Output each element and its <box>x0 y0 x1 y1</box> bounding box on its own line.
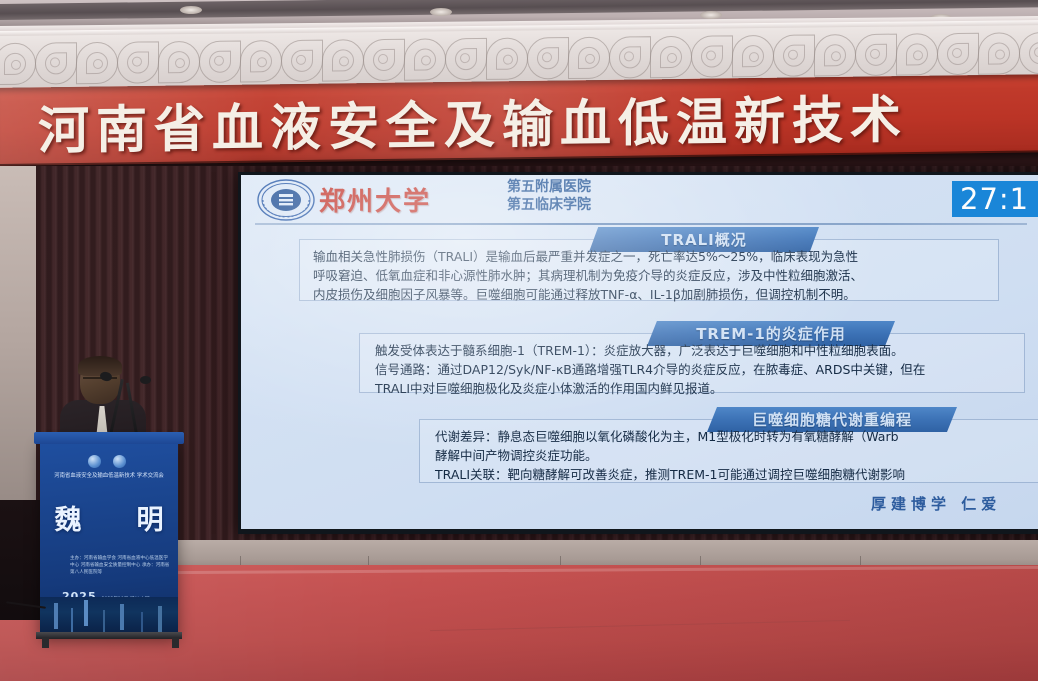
slide-section: TRALI概况 输血相关急性肺损伤（TRALI）是输血后最严重并发症之一，死亡率… <box>299 227 999 305</box>
podium-top-rail <box>34 432 184 444</box>
spiral-ornament-icon <box>0 43 36 85</box>
podium-logos <box>64 454 150 468</box>
conference-hall-photo: 河南省血液安全及输血低温新技术 郑州大学 第五附属医院 第五临床学院 <box>0 0 1038 681</box>
spiral-ornament-icon <box>158 41 200 83</box>
spiral-ornament-icon <box>568 37 610 79</box>
spiral-ornament-inner <box>701 45 723 67</box>
podium-leg <box>42 638 49 648</box>
spiral-ornament-icon <box>896 33 938 75</box>
podium-rollup-banner: 河南省血液安全及输血低温新技术 学术交流会 魏 明 主办：河南省输血学会 河南省… <box>40 440 178 635</box>
podium-skyline-graphic <box>40 597 178 635</box>
spiral-ornament-inner <box>783 45 805 67</box>
body-line: 酵解中间产物调控炎症功能。 <box>435 446 905 465</box>
spiral-ornament-icon <box>281 40 323 82</box>
spiral-ornament-inner <box>127 51 149 73</box>
spiral-ornament-inner <box>742 45 764 67</box>
spiral-ornament-icon <box>609 36 651 78</box>
spiral-ornament-inner <box>86 52 108 74</box>
venue-banner-text: 河南省血液安全及输血低温新技术 <box>38 78 908 163</box>
beam-light <box>700 11 722 19</box>
beam-light <box>180 6 202 14</box>
organizer-logo-icon <box>88 455 101 468</box>
speaker-name-display: 魏 明 <box>40 498 178 537</box>
podium-leg <box>172 638 179 648</box>
body-line: 信号通路：通过DAP12/Syk/NF-κB通路增强TLR4介导的炎症反应，在脓… <box>375 360 925 379</box>
spiral-ornament-icon <box>445 38 487 80</box>
spiral-ornament-inner <box>619 46 641 68</box>
spiral-ornament-inner <box>332 49 354 71</box>
affiliation-line-1: 第五附属医院 <box>507 178 591 196</box>
spiral-ornament-icon <box>35 42 77 84</box>
podium-conference-title: 河南省血液安全及输血低温新技术 学术交流会 <box>50 472 168 480</box>
body-line: 触发受体表达于髓系细胞-1（TREM-1）：炎症放大器，广泛表达于巨噬细胞和中性… <box>375 341 925 360</box>
spiral-ornament-inner <box>537 47 559 69</box>
section-body: 触发受体表达于髓系细胞-1（TREM-1）：炎症放大器，广泛表达于巨噬细胞和中性… <box>375 341 925 398</box>
section-body: 代谢差异：静息态巨噬细胞以氧化磷酸化为主，M1型极化时转为有氧糖酵解（Warb … <box>435 427 905 484</box>
spiral-ornament-icon <box>1019 32 1038 74</box>
body-line: 呼吸窘迫、低氧血症和非心源性肺水肿；其病理机制为免疫介导的炎症反应，涉及中性粒细… <box>313 266 863 285</box>
spiral-ornament-inner <box>291 50 313 72</box>
spiral-ornament-inner <box>209 51 231 73</box>
spiral-ornament-icon <box>240 40 282 82</box>
spiral-ornament-icon <box>978 32 1020 74</box>
timer-value: 27:1 <box>960 182 1029 216</box>
spiral-ornament-icon <box>732 35 774 77</box>
spiral-ornament-icon <box>855 34 897 76</box>
spiral-ornament-inner <box>1029 42 1038 64</box>
affiliation-name: 第五附属医院 第五临床学院 <box>507 178 591 214</box>
spiral-ornament-inner <box>988 42 1010 64</box>
spiral-ornament-inner <box>455 48 477 70</box>
beam-light <box>430 8 452 16</box>
organizer-logo-icon <box>113 455 126 468</box>
spiral-ornament-icon <box>117 41 159 83</box>
microphone-icon <box>140 376 151 384</box>
slide-section: TREM-1的炎症作用 触发受体表达于髓系细胞-1（TREM-1）：炎症放大器，… <box>359 321 1025 397</box>
spiral-ornament-icon <box>773 34 815 76</box>
spiral-ornament-inner <box>947 43 969 65</box>
spiral-ornament-icon <box>199 40 241 82</box>
body-line: TRALI关联：靶向糖酵解可改善炎症，推测TREM-1可能通过调控巨噬细胞糖代谢… <box>435 465 905 484</box>
spiral-ornament-icon <box>650 36 692 78</box>
spiral-ornament-inner <box>865 44 887 66</box>
spiral-ornament-icon <box>363 39 405 81</box>
spiral-ornament-inner <box>373 49 395 71</box>
body-line: 内皮损伤及细胞因子风暴等。巨噬细胞可能通过释放TNF-α、IL-1β加剧肺损伤，… <box>313 285 863 304</box>
spiral-ornament-icon <box>937 33 979 75</box>
spiral-ornament-icon <box>814 34 856 76</box>
university-seal-icon <box>257 179 315 221</box>
spiral-ornament-inner <box>45 52 67 74</box>
body-line: 代谢差异：静息态巨噬细胞以氧化磷酸化为主，M1型极化时转为有氧糖酵解（Warb <box>435 427 905 446</box>
spiral-ornament-inner <box>496 48 518 70</box>
spiral-ornament-icon <box>486 37 528 79</box>
body-line: 输血相关急性肺损伤（TRALI）是输血后最严重并发症之一，死亡率达5%～25%，… <box>313 247 863 266</box>
spiral-ornament-icon <box>322 39 364 81</box>
spiral-ornament-icon <box>527 37 569 79</box>
section-body: 输血相关急性肺损伤（TRALI）是输血后最严重并发症之一，死亡率达5%～25%，… <box>313 247 863 304</box>
slide-section: 巨噬细胞糖代谢重编程 代谢差异：静息态巨噬细胞以氧化磷酸化为主，M1型极化时转为… <box>419 407 1038 487</box>
podium-organizers: 主办：河南省输血学会 河南省血液中心低温医学中心 河南省输血安全质量控制中心 承… <box>70 555 170 576</box>
university-name: 郑州大学 <box>319 181 431 218</box>
slide-divider <box>255 223 1027 225</box>
body-line: TRALI中对巨噬细胞极化及炎症小体激活的作用国内鲜见报道。 <box>375 379 925 398</box>
spiral-ornament-inner <box>824 44 846 66</box>
presentation-screen[interactable]: 郑州大学 第五附属医院 第五临床学院 27:1 TRALI概况 输血相关急性肺损… <box>241 175 1038 529</box>
spiral-ornament-inner <box>250 50 272 72</box>
spiral-ornament-inner <box>578 47 600 69</box>
affiliation-line-2: 第五临床学院 <box>507 196 591 214</box>
spiral-ornament-icon <box>76 42 118 84</box>
spiral-ornament-inner <box>4 53 26 75</box>
slide-motto: 厚建博学 仁爱ᅟ <box>871 493 1015 514</box>
spiral-ornament-icon <box>691 35 733 77</box>
spiral-ornament-inner <box>168 51 190 73</box>
spiral-ornament-inner <box>414 48 436 70</box>
spiral-ornament-inner <box>906 43 928 65</box>
podium-base <box>36 632 182 639</box>
countdown-timer: 27:1 <box>952 181 1038 217</box>
spiral-ornament-inner <box>660 46 682 68</box>
spiral-ornament-icon <box>404 38 446 80</box>
